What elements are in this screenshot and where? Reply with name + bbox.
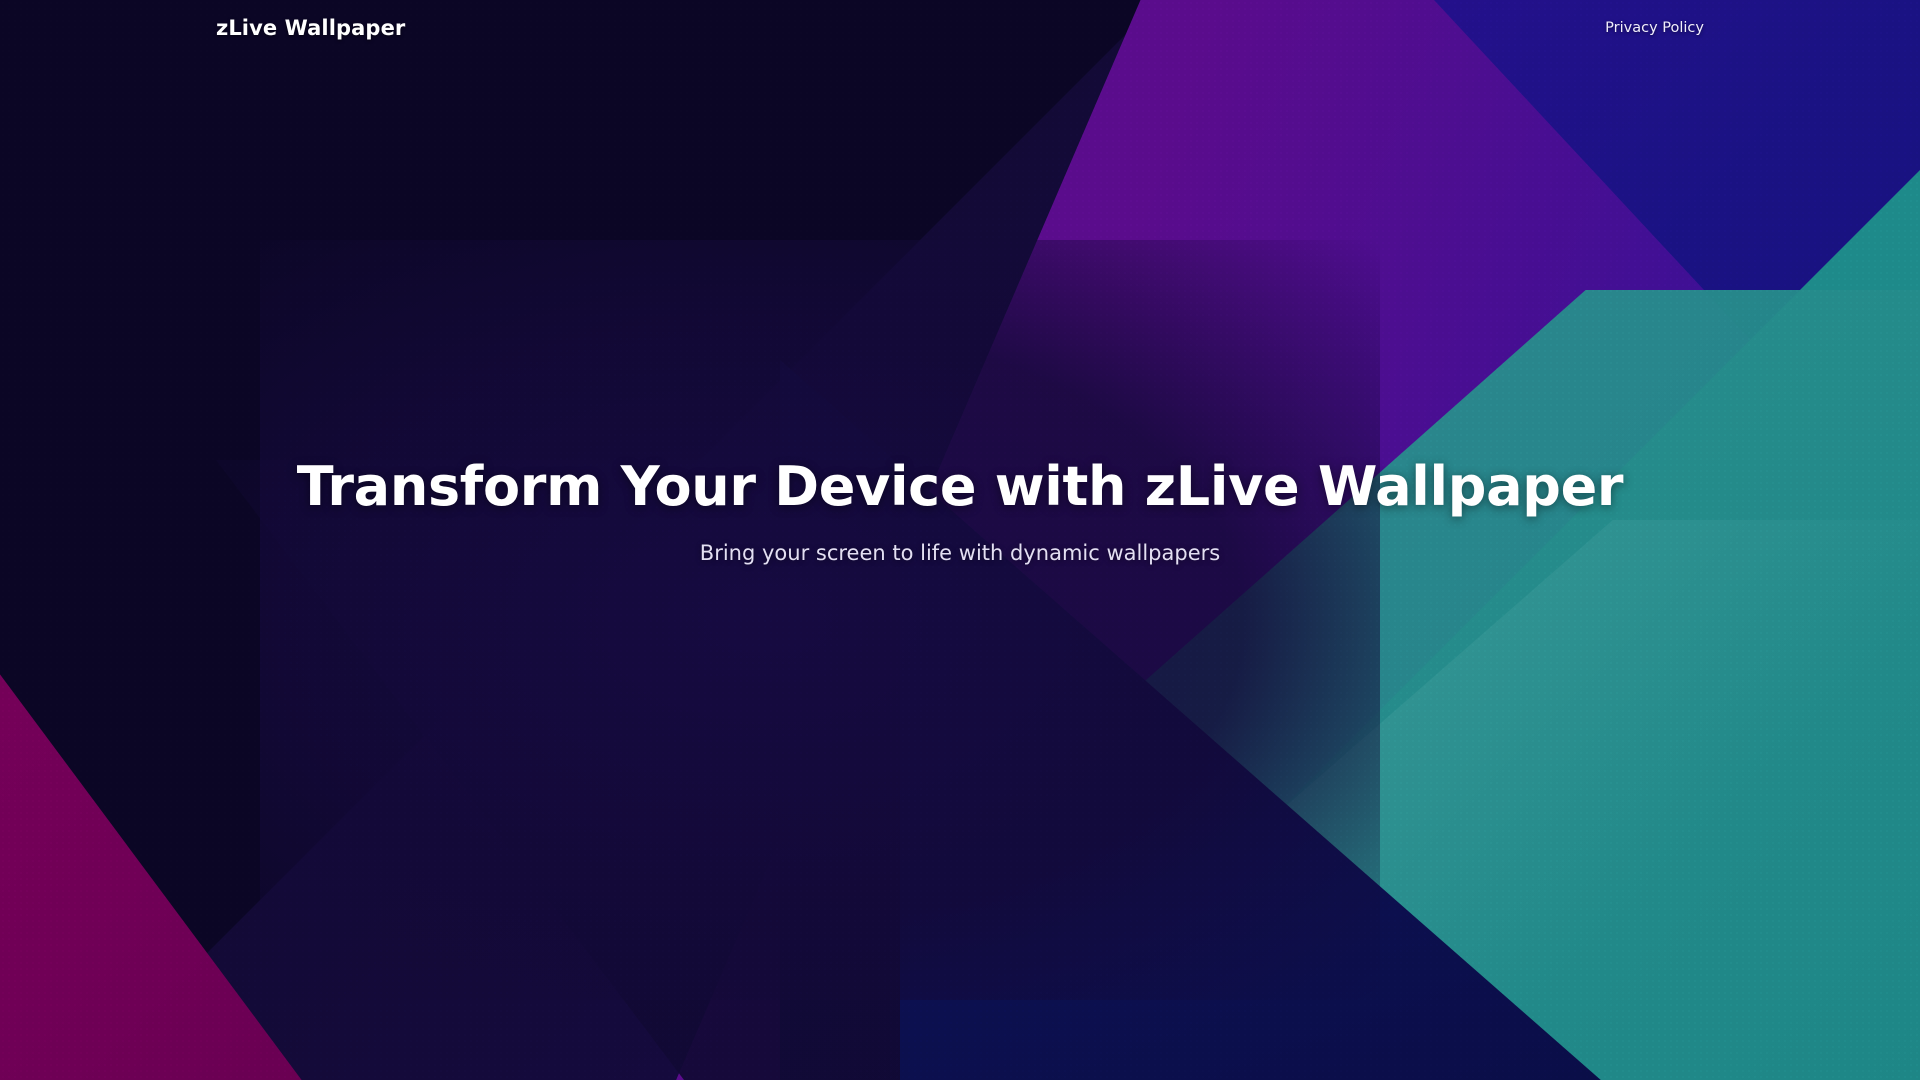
hero-section: Transform Your Device with zLive Wallpap… — [0, 458, 1920, 568]
hero-subtitle: Bring your screen to life with dynamic w… — [40, 540, 1880, 567]
landing-page: zLive Wallpaper Privacy Policy Transform… — [0, 0, 1920, 1080]
brand-logo[interactable]: zLive Wallpaper — [216, 16, 405, 40]
hero-title: Transform Your Device with zLive Wallpap… — [40, 458, 1880, 516]
primary-navigation: Privacy Policy — [1605, 20, 1704, 36]
nav-link-privacy-policy[interactable]: Privacy Policy — [1605, 20, 1704, 36]
center-indigo-glow — [260, 240, 1380, 1000]
site-header: zLive Wallpaper Privacy Policy — [0, 0, 1920, 56]
